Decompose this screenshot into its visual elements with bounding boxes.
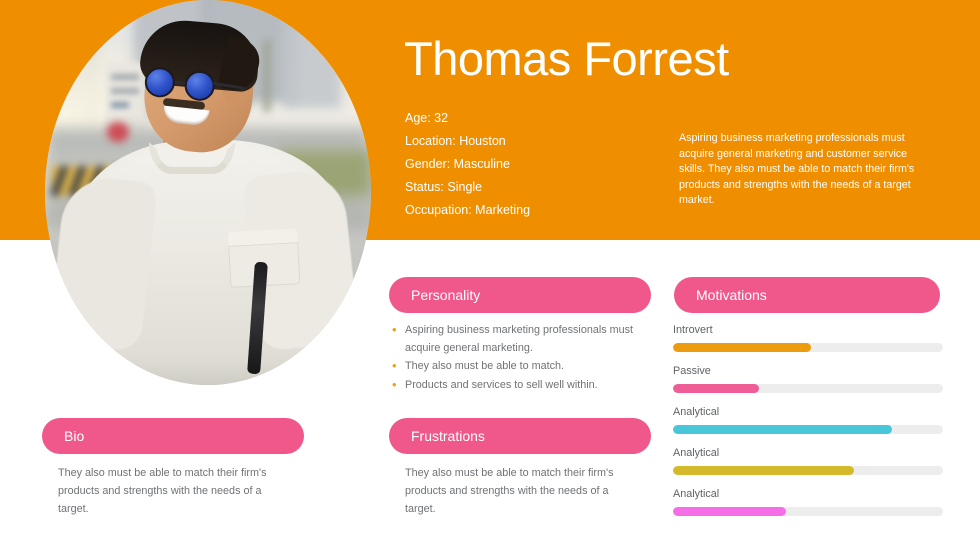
- motivation-row: Analytical: [673, 404, 943, 434]
- attribute-status: Status: Single: [405, 176, 530, 199]
- section-header-personality: Personality: [389, 277, 651, 313]
- personality-bullet-list: Aspiring business marketing professional…: [390, 322, 646, 395]
- profile-photo-image: [45, 0, 371, 385]
- profile-photo: [45, 0, 371, 385]
- motivation-fill: [673, 384, 759, 393]
- intro-paragraph: Aspiring business marketing professional…: [679, 131, 925, 209]
- list-item: Products and services to sell well withi…: [390, 377, 646, 395]
- attribute-age: Age: 32: [405, 107, 530, 130]
- list-item: They also must be able to match.: [390, 358, 646, 376]
- motivation-label: Analytical: [673, 486, 943, 502]
- motivation-fill: [673, 507, 786, 516]
- attribute-occupation: Occupation: Marketing: [405, 199, 530, 222]
- motivation-row: Analytical: [673, 445, 943, 475]
- bio-text: They also must be able to match their fi…: [58, 464, 282, 518]
- motivation-track: [673, 343, 943, 352]
- motivation-track: [673, 507, 943, 516]
- motivation-row: Passive: [673, 363, 943, 393]
- attribute-gender: Gender: Masculine: [405, 153, 530, 176]
- section-title-personality: Personality: [411, 287, 480, 303]
- section-header-frustrations: Frustrations: [389, 418, 651, 454]
- section-header-motivations: Motivations: [674, 277, 940, 313]
- motivation-row: Introvert: [673, 322, 943, 352]
- motivation-fill: [673, 466, 854, 475]
- motivation-row: Analytical: [673, 486, 943, 516]
- motivation-fill: [673, 425, 892, 434]
- motivation-track: [673, 466, 943, 475]
- section-header-bio: Bio: [42, 418, 304, 454]
- frustrations-text: They also must be able to match their fi…: [405, 464, 629, 518]
- motivation-label: Passive: [673, 363, 943, 379]
- photo-building: [283, 4, 341, 108]
- section-title-bio: Bio: [64, 428, 84, 444]
- attribute-list: Age: 32 Location: Houston Gender: Mascul…: [405, 107, 530, 222]
- motivation-label: Analytical: [673, 404, 943, 420]
- motivation-bar-list: Introvert Passive Analytical Analytical …: [673, 322, 943, 527]
- motivation-label: Analytical: [673, 445, 943, 461]
- motivation-label: Introvert: [673, 322, 943, 338]
- motivation-fill: [673, 343, 811, 352]
- motivation-track: [673, 384, 943, 393]
- list-item: Aspiring business marketing professional…: [390, 322, 646, 357]
- page-title: Thomas Forrest: [404, 33, 729, 85]
- photo-street-sign: [105, 62, 145, 132]
- attribute-location: Location: Houston: [405, 130, 530, 153]
- photo-red-object: [107, 122, 129, 142]
- section-title-motivations: Motivations: [696, 287, 767, 303]
- section-title-frustrations: Frustrations: [411, 428, 485, 444]
- motivation-track: [673, 425, 943, 434]
- photo-palm-tree: [263, 40, 271, 112]
